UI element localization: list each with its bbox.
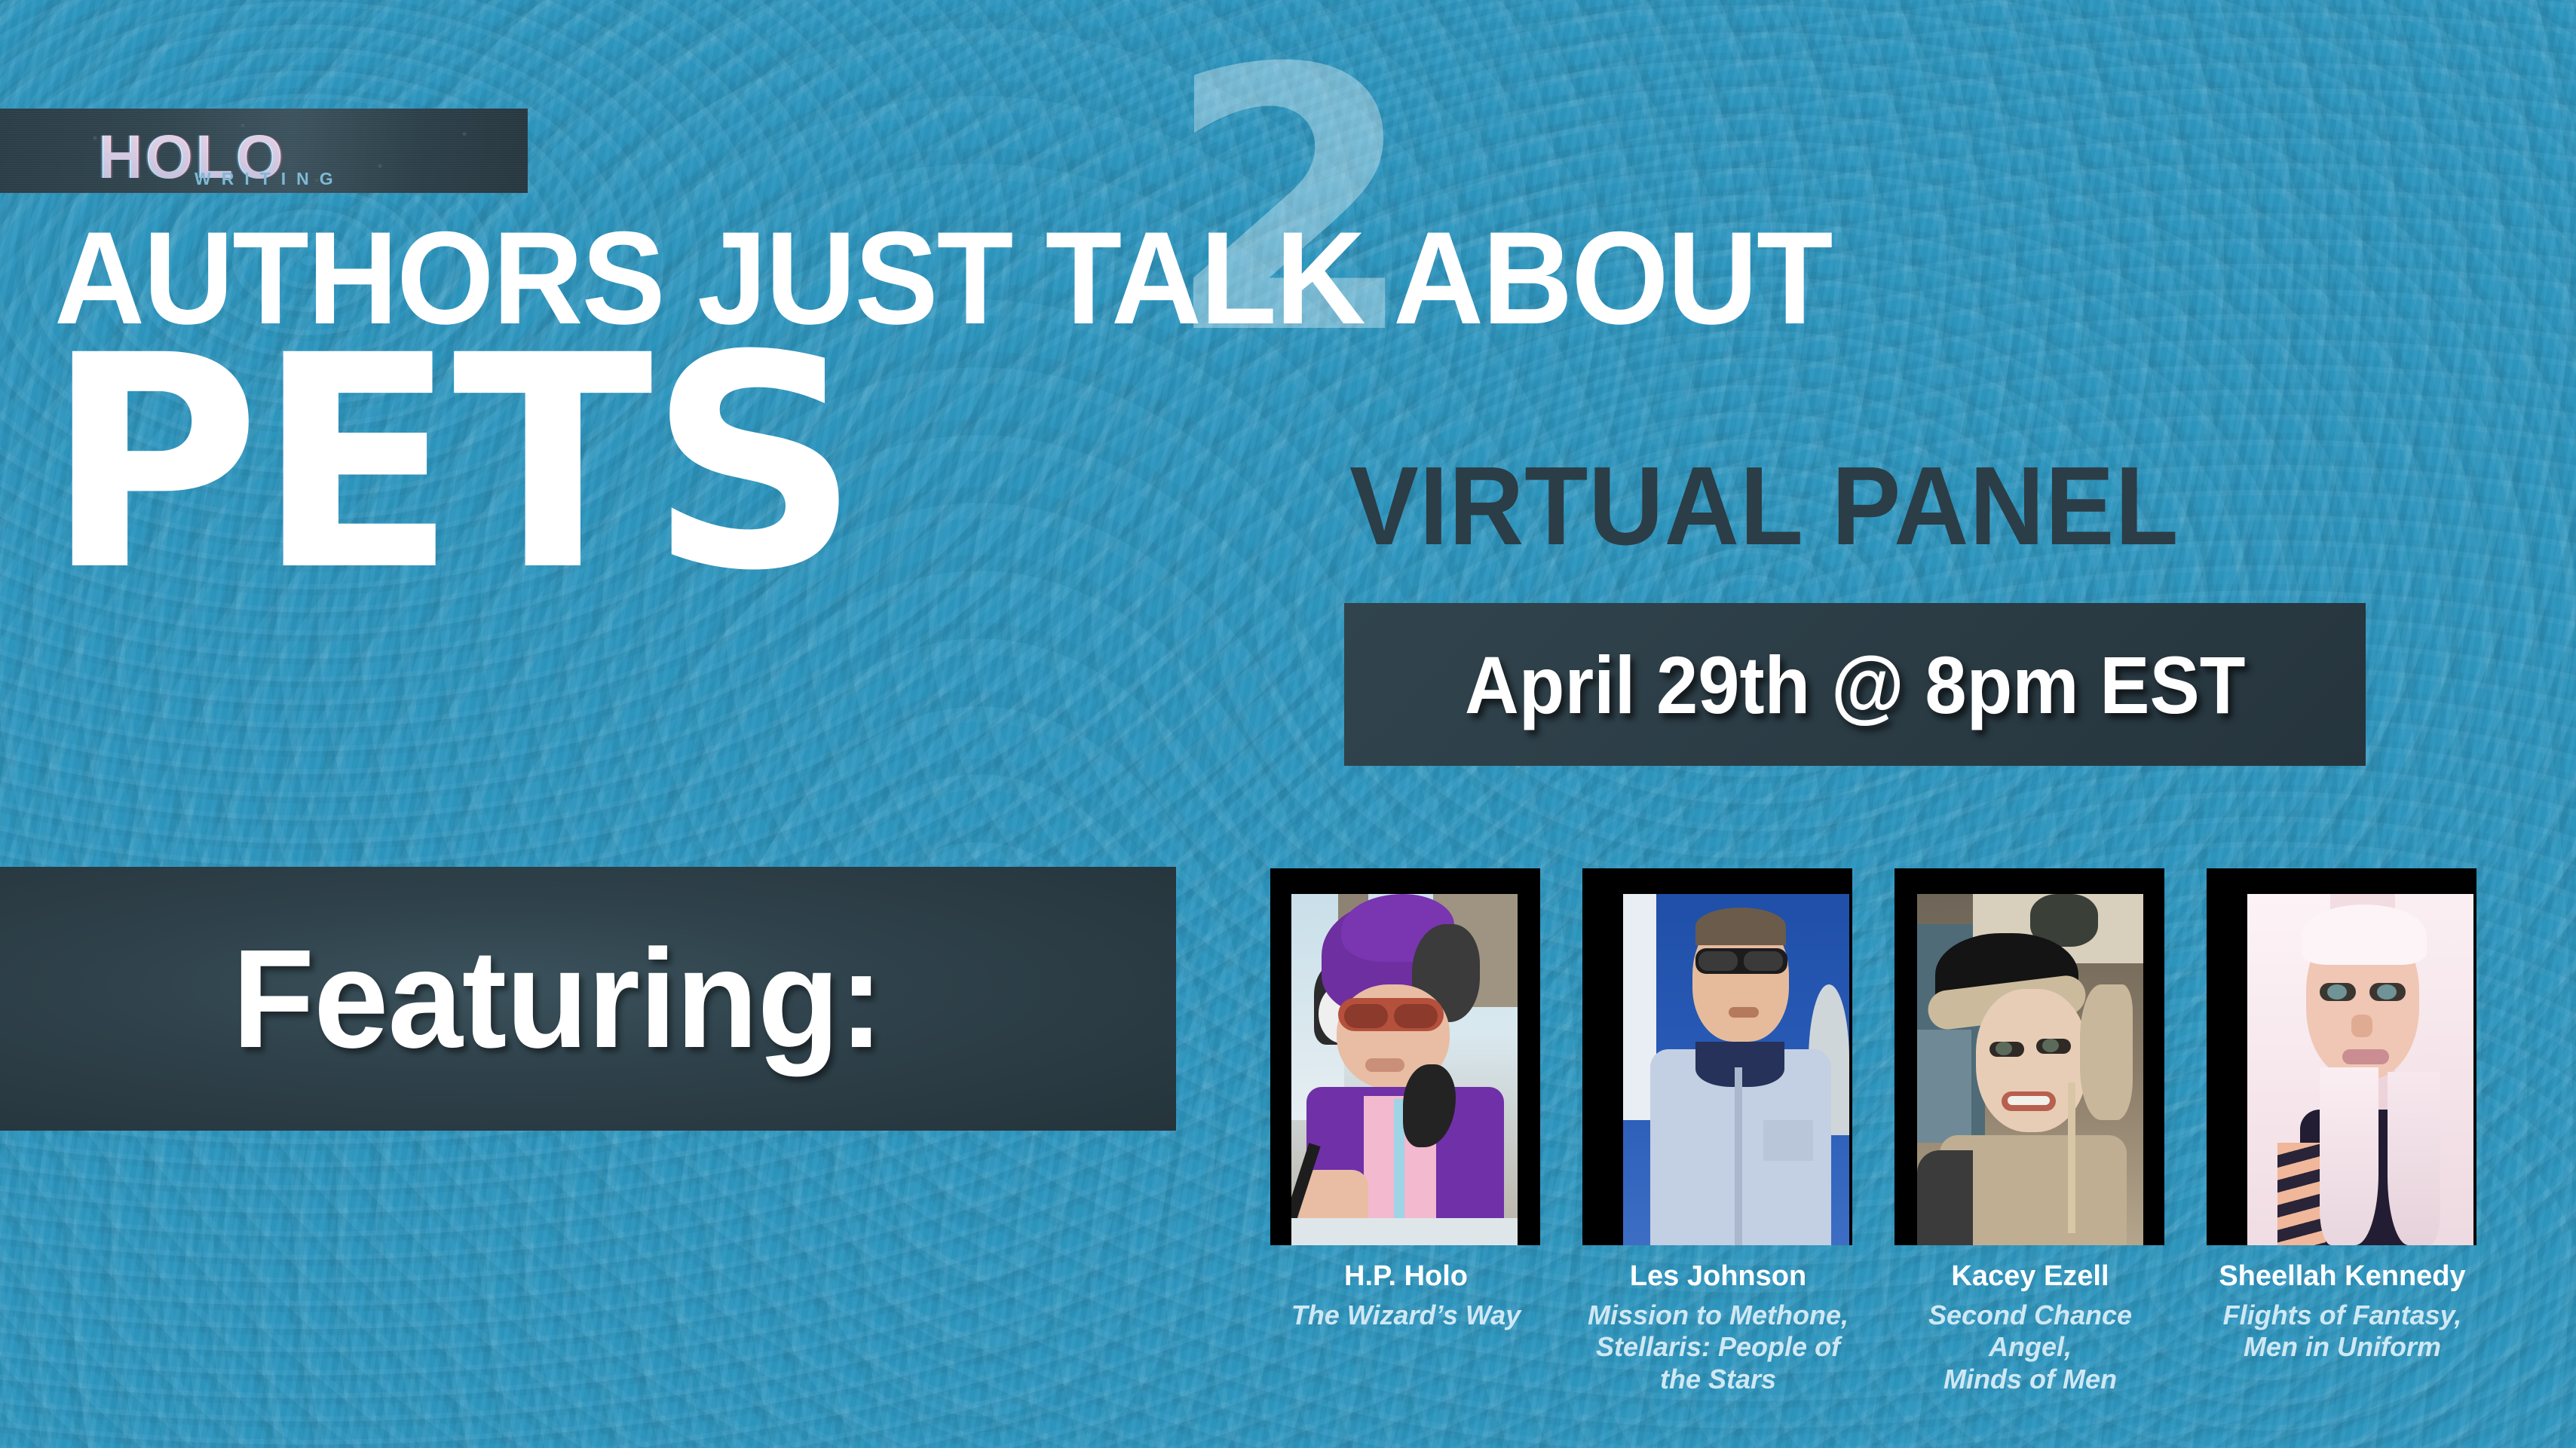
author-meta: Sheellah Kennedy Flights of Fantasy,Men … xyxy=(2207,1260,2478,1364)
author-photo xyxy=(2247,894,2473,1245)
author-books: Flights of Fantasy,Men in Uniform xyxy=(2207,1300,2478,1364)
author-name: Les Johnson xyxy=(1582,1260,1854,1293)
author-books: Mission to Methone,Stellaris: People of … xyxy=(1582,1300,1854,1395)
author-meta: Les Johnson Mission to Methone,Stellaris… xyxy=(1582,1260,1854,1395)
featuring-label: Featuring: xyxy=(232,919,883,1079)
author-photo xyxy=(1623,894,1849,1245)
author-meta: H.P. Holo The Wizard’s Way xyxy=(1270,1260,1542,1331)
author-name: Kacey Ezell xyxy=(1894,1260,2166,1293)
featuring-banner: Featuring: xyxy=(0,867,1176,1131)
author-name: H.P. Holo xyxy=(1270,1260,1542,1293)
logo-secondary-text: WRITING xyxy=(195,169,344,189)
headline-line-2: PETS xyxy=(45,317,856,611)
author-card: Kacey Ezell Second Chance Angel,Minds of… xyxy=(1894,868,2166,1396)
holo-writing-logo: HOLO WRITING xyxy=(0,109,528,193)
event-date-badge: April 29th @ 8pm EST xyxy=(1344,603,2366,766)
event-date-text: April 29th @ 8pm EST xyxy=(1465,638,2245,732)
author-name: Sheellah Kennedy xyxy=(2207,1260,2478,1293)
author-photo xyxy=(1917,894,2143,1245)
author-meta: Kacey Ezell Second Chance Angel,Minds of… xyxy=(1894,1260,2166,1395)
event-type-label: VIRTUAL PANEL xyxy=(1349,451,2179,562)
author-photo xyxy=(1291,894,1518,1245)
author-books: Second Chance Angel,Minds of Men xyxy=(1894,1300,2166,1395)
promotional-poster: 2 HOLO WRITING AUTHORS JUST TALK ABOUT P… xyxy=(0,0,2576,1448)
author-books: The Wizard’s Way xyxy=(1270,1300,1542,1331)
author-strip: H.P. Holo The Wizard’s Way xyxy=(1270,868,2537,1396)
author-card: Les Johnson Mission to Methone,Stellaris… xyxy=(1582,868,1854,1396)
author-card: Sheellah Kennedy Flights of Fantasy,Men … xyxy=(2207,868,2478,1396)
author-card: H.P. Holo The Wizard’s Way xyxy=(1270,868,1542,1396)
